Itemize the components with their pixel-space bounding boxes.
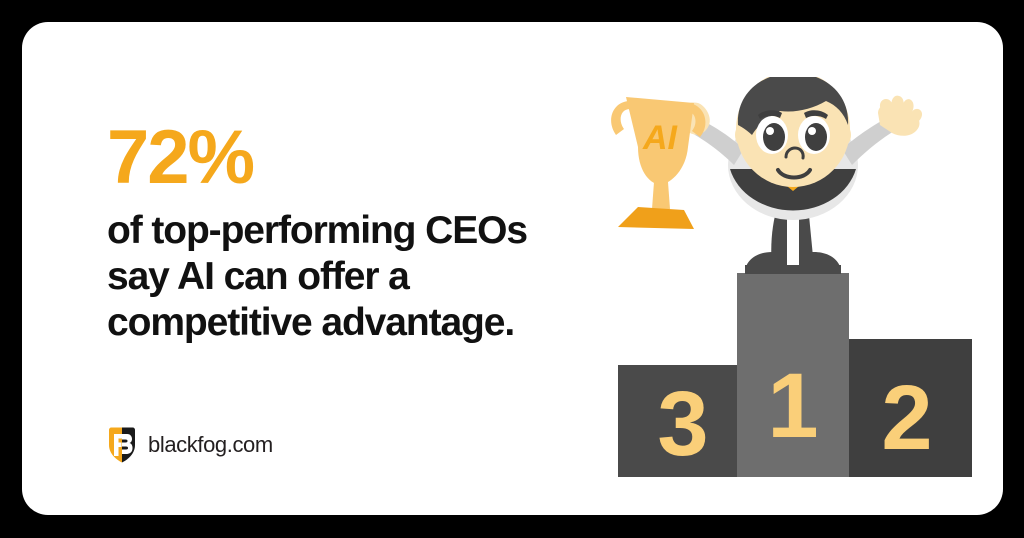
podium-illustration: 3 1 2 — [582, 77, 1002, 497]
podium-number-first: 1 — [767, 355, 818, 457]
pupil-right — [805, 123, 827, 151]
ai-trophy: AI — [611, 97, 705, 229]
businessman-character — [679, 77, 922, 274]
podium-number-third: 3 — [657, 373, 708, 475]
podium-number-second: 2 — [881, 367, 932, 469]
content-card: 72% of top-performing CEOs say AI can of… — [22, 22, 1003, 515]
infographic-canvas: 72% of top-performing CEOs say AI can of… — [0, 0, 1024, 538]
podium-group: 3 1 2 — [618, 273, 972, 477]
stat-text-block: 72% of top-performing CEOs say AI can of… — [107, 122, 527, 346]
brand-name: blackfog.com — [148, 434, 273, 456]
blackfog-shield-icon — [107, 426, 137, 464]
pupil-left — [763, 123, 785, 151]
stat-description: of top-performing CEOs say AI can offer … — [107, 208, 527, 346]
trophy-label: AI — [642, 119, 679, 157]
trophy-base — [618, 207, 694, 229]
stat-percentage: 72% — [107, 122, 527, 194]
trophy-handle-left — [611, 101, 630, 135]
trophy-stem — [652, 182, 670, 209]
brand-lockup[interactable]: blackfog.com — [107, 426, 273, 464]
